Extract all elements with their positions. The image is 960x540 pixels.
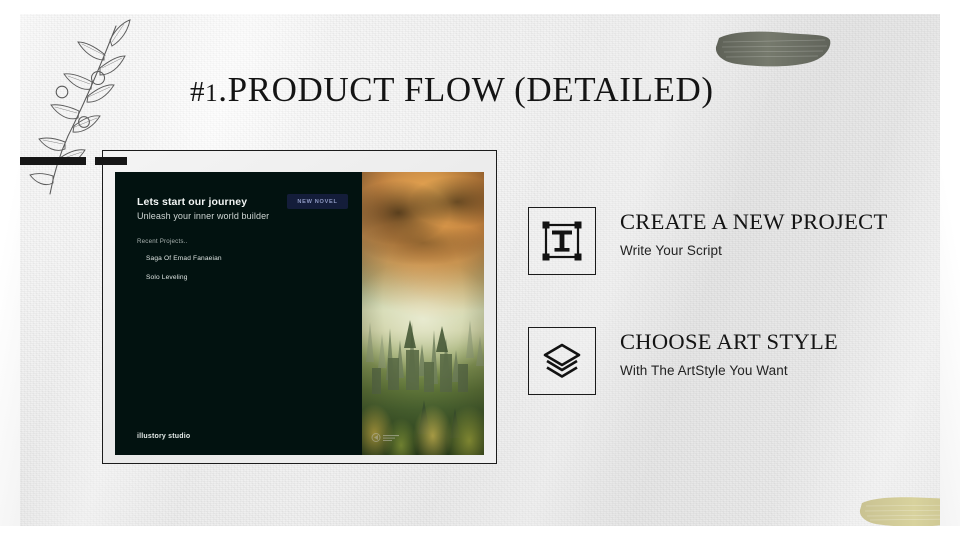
app-subheading: Unleash your inner world builder: [137, 211, 269, 221]
tab-bar-segment-narrow[interactable]: [95, 157, 127, 165]
artwork-vignette: [362, 172, 484, 455]
feature-item-choose-art-style: CHOOSE ART STYLE With The ArtStyle You W…: [528, 327, 838, 395]
app-heading: Lets start our journey: [137, 196, 247, 208]
page-margin-bottom: [0, 526, 960, 540]
app-window: Lets start our journey Unleash your inne…: [115, 172, 484, 455]
feature-title: CHOOSE ART STYLE: [620, 330, 838, 354]
tab-bar-segment-wide[interactable]: [20, 157, 86, 165]
new-novel-button[interactable]: NEW NOVEL: [287, 194, 348, 209]
list-item[interactable]: Solo Leveling: [146, 274, 188, 281]
recent-projects-label: Recent Projects..: [137, 238, 188, 245]
page-title: #1.PRODUCT FLOW (DETAILED): [190, 70, 830, 110]
feature-subtitle: Write Your Script: [620, 243, 888, 258]
app-tab-bar: [20, 157, 280, 166]
feature-item-create-project: CREATE A NEW PROJECT Write Your Script: [528, 207, 888, 275]
fantasy-cityscape-artwork: [362, 172, 484, 455]
page-title-number: 1: [205, 80, 218, 107]
brush-stroke-bottom-right-icon: [858, 492, 942, 528]
list-item[interactable]: Saga Of Emad Fanaeian: [146, 255, 222, 262]
feature-text-block: CREATE A NEW PROJECT Write Your Script: [620, 207, 888, 258]
page-title-hash: #: [190, 76, 205, 108]
page-title-text: .PRODUCT FLOW (DETAILED): [218, 70, 713, 109]
studio-name: illustory studio: [137, 433, 190, 440]
page-margin-left: [0, 0, 20, 540]
page-margin-top: [0, 0, 960, 14]
layers-icon: [528, 327, 596, 395]
feature-title: CREATE A NEW PROJECT: [620, 210, 888, 234]
brush-stroke-top-right-icon: [713, 25, 833, 73]
app-sidebar-panel: Lets start our journey Unleash your inne…: [115, 172, 362, 455]
page-margin-right: [940, 0, 960, 540]
feature-subtitle: With The ArtStyle You Want: [620, 363, 838, 378]
slide-canvas: #1.PRODUCT FLOW (DETAILED) Lets start ou…: [0, 0, 960, 540]
text-tool-icon: [528, 207, 596, 275]
feature-text-block: CHOOSE ART STYLE With The ArtStyle You W…: [620, 327, 838, 378]
